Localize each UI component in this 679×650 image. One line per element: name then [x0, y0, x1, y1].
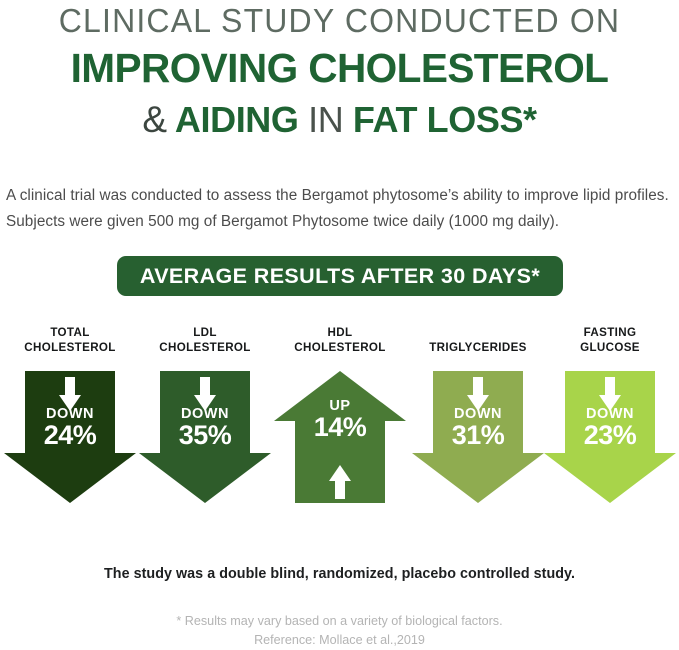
metric-column: TOTALCHOLESTEROLDOWN24% — [0, 325, 140, 515]
metric-label-line2: CHOLESTEROL — [159, 341, 250, 354]
metric-column: LDLCHOLESTEROLDOWN35% — [135, 325, 275, 515]
results-banner: AVERAGE RESULTS AFTER 30 DAYS* — [117, 256, 563, 296]
metric-label-line2: CHOLESTEROL — [24, 341, 115, 354]
disclaimer-line: * Results may vary based on a variety of… — [0, 612, 679, 631]
main-heading: IMPROVING CHOLESTEROL — [3, 45, 675, 92]
intro-paragraph: A clinical trial was conducted to assess… — [6, 183, 674, 235]
metric-arrow: DOWN31% — [408, 371, 548, 503]
ampersand-glyph: & — [142, 99, 166, 140]
sub-heading-fat-loss: FAT LOSS* — [353, 99, 537, 140]
metric-label-line2: CHOLESTEROL — [294, 341, 385, 354]
metric-arrow: DOWN35% — [135, 371, 275, 503]
sub-heading: & AIDING IN FAT LOSS* — [0, 99, 679, 141]
metric-label: TRIGLYCERIDES — [408, 340, 548, 355]
reference-line: Reference: Mollace et al.,2019 — [0, 631, 679, 650]
kicker-heading: CLINICAL STUDY CONDUCTED ON — [10, 2, 669, 40]
sub-heading-aiding: AIDING — [175, 99, 299, 140]
metric-label: LDLCHOLESTEROL — [135, 325, 275, 355]
footer-disclaimer: * Results may vary based on a variety of… — [0, 612, 679, 650]
metric-label: HDLCHOLESTEROL — [270, 325, 410, 355]
metric-column: HDLCHOLESTEROLUP14% — [270, 325, 410, 515]
infographic-page: CLINICAL STUDY CONDUCTED ON IMPROVING CH… — [0, 0, 679, 645]
metric-arrow: UP14% — [270, 371, 410, 503]
metric-label: FASTINGGLUCOSE — [540, 325, 679, 355]
metric-arrow: DOWN24% — [0, 371, 140, 503]
study-note: The study was a double blind, randomized… — [0, 566, 679, 582]
metric-label-line2: GLUCOSE — [580, 341, 640, 354]
metric-arrow: DOWN23% — [540, 371, 679, 503]
metric-column: FASTINGGLUCOSEDOWN23% — [540, 325, 679, 515]
sub-heading-in: IN — [308, 99, 343, 140]
metric-label: TOTALCHOLESTEROL — [0, 325, 140, 355]
metric-column: TRIGLYCERIDESDOWN31% — [408, 325, 548, 515]
metrics-row: TOTALCHOLESTEROLDOWN24%LDLCHOLESTEROLDOW… — [0, 325, 679, 515]
results-banner-label: AVERAGE RESULTS AFTER 30 DAYS* — [140, 264, 540, 289]
